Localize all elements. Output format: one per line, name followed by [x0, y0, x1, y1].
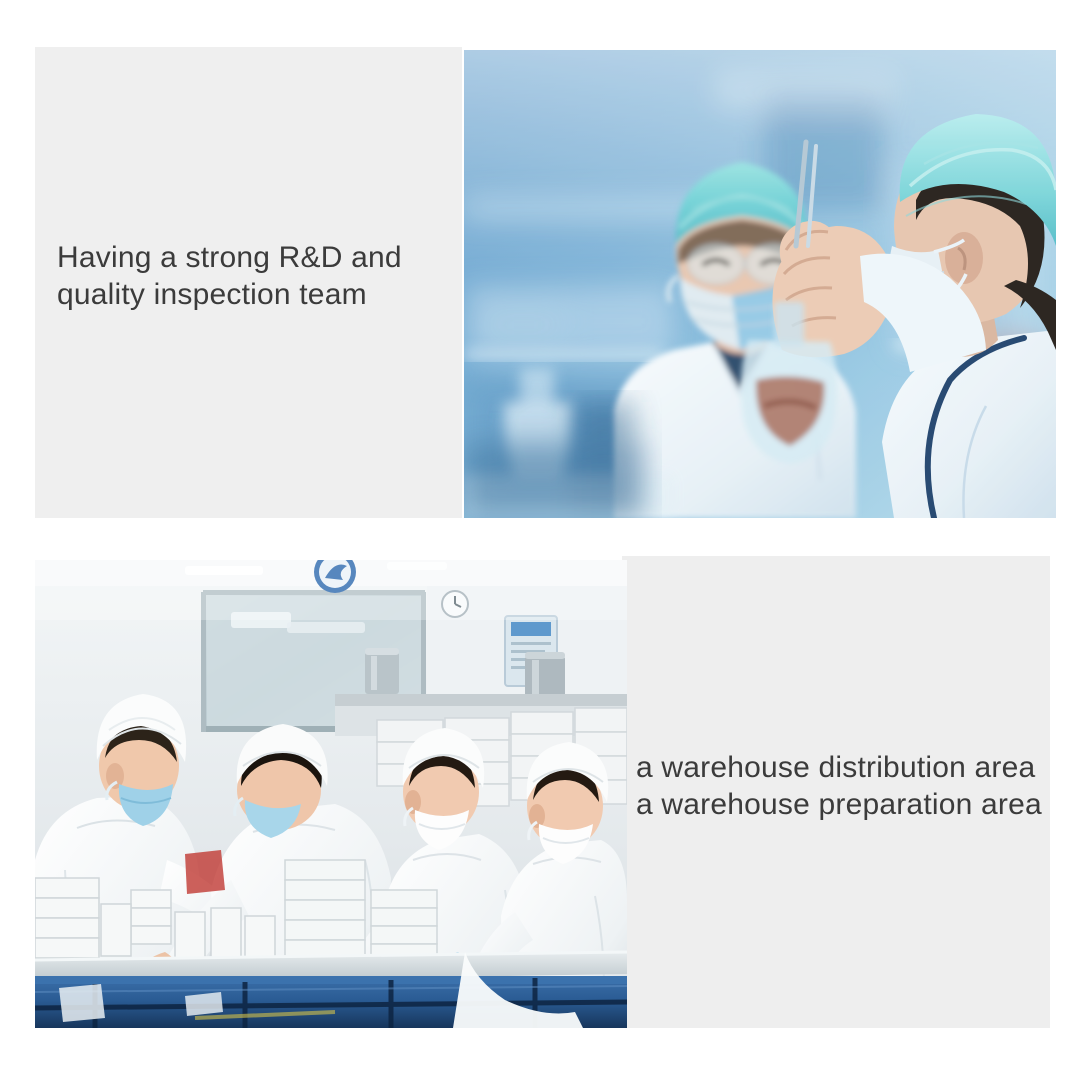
lab-quality-inspection-photo: [464, 50, 1056, 518]
section-warehouse: a warehouse distribution area a warehous…: [35, 556, 1050, 1028]
caption-warehouse: a warehouse distribution area a warehous…: [636, 749, 1056, 823]
section-rd-quality: Having a strong R&D and quality inspecti…: [35, 47, 1056, 518]
poster-page: Having a strong R&D and quality inspecti…: [0, 0, 1080, 1080]
warehouse-packing-photo: [35, 560, 627, 1028]
warehouse-photo-graphic: [35, 560, 627, 1028]
caption-rd-quality: Having a strong R&D and quality inspecti…: [57, 239, 457, 313]
lab-photo-graphic: [464, 50, 1056, 518]
